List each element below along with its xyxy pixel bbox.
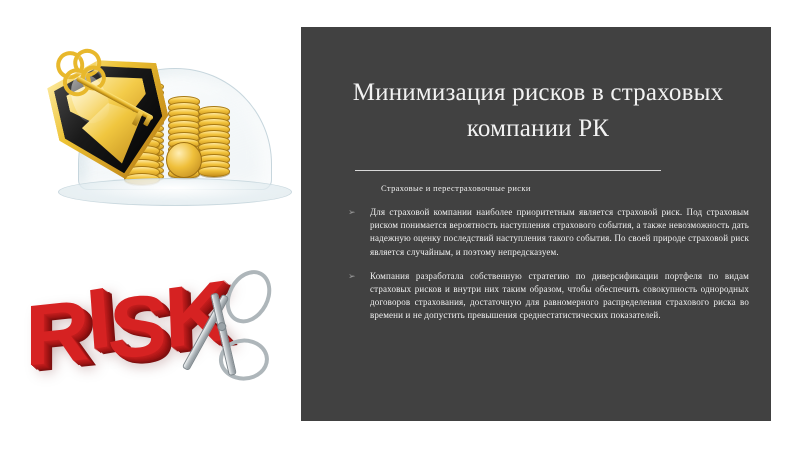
scissors-icon <box>156 258 287 400</box>
bullet-item-1: ➢ Для страховой компании наиболее приори… <box>345 206 749 259</box>
title-divider <box>355 170 661 171</box>
risk-scissors-illustration: RISK <box>22 262 290 412</box>
bullet-arrow-icon: ➢ <box>348 206 356 219</box>
bullet-arrow-icon: ➢ <box>348 270 356 283</box>
bullet-item-2: ➢ Компания разработала собственную страт… <box>345 270 749 323</box>
slide-canvas: RISK Минимизация рисков в страховых комп… <box>0 0 800 449</box>
content-panel: Минимизация рисков в страховых компании … <box>301 27 771 421</box>
bullet-item-1-text: Для страховой компании наиболее приорите… <box>370 207 749 257</box>
bullet-list: ➢ Для страховой компании наиболее приори… <box>345 206 749 334</box>
risk-letter-r: R <box>25 275 86 391</box>
slide-title: Минимизация рисков в страховых компании … <box>339 75 737 147</box>
bullet-item-2-text: Компания разработала собственную стратег… <box>370 271 749 321</box>
shield-coins-illustration <box>20 30 290 220</box>
slide-subtitle: Страховые и перестраховочные риски <box>381 182 531 194</box>
